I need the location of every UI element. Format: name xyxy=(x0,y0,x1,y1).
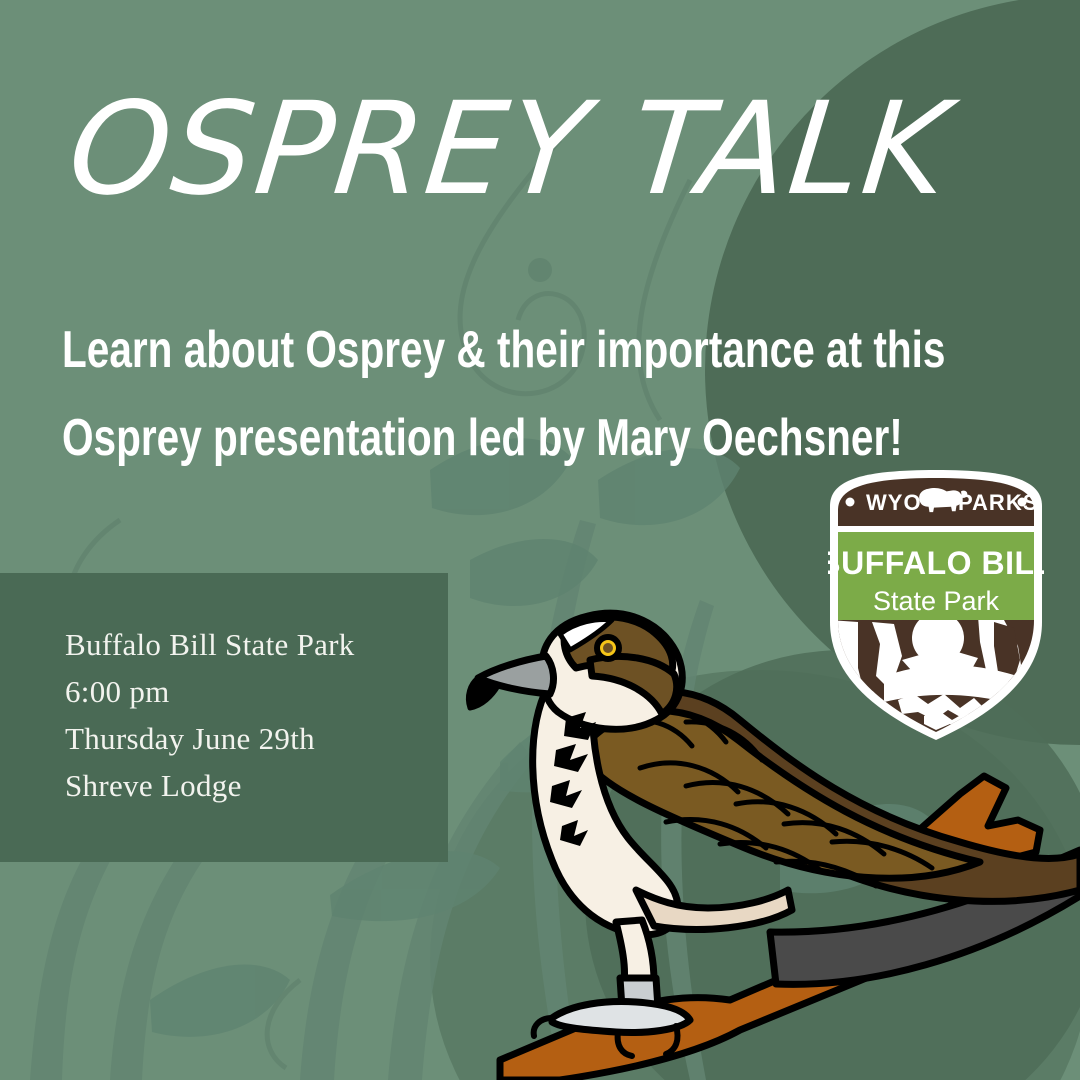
badge-parks-text: PARKS xyxy=(958,490,1038,515)
badge-divider xyxy=(828,526,1044,532)
badge-name-line-1: BUFFALO BILL xyxy=(828,545,1044,581)
subtitle-line-2: Osprey presentation led by Mary Oechsner… xyxy=(62,394,748,482)
detail-location: Shreve Lodge xyxy=(65,762,355,809)
detail-date: Thursday June 29th xyxy=(65,715,355,762)
osprey-talon xyxy=(552,1002,690,1033)
detail-time: 6:00 pm xyxy=(65,668,355,715)
poster-title: OSPREY TALK xyxy=(63,86,956,214)
poster-subtitle: Learn about Osprey & their importance at… xyxy=(62,306,748,482)
subtitle-line-1: Learn about Osprey & their importance at… xyxy=(62,306,748,394)
beak-hook xyxy=(468,678,498,708)
bullet-dot-left xyxy=(846,498,855,507)
talon-claw xyxy=(534,1018,552,1036)
vine-dot xyxy=(528,258,552,282)
event-details-panel: Buffalo Bill State Park 6:00 pm Thursday… xyxy=(0,573,448,862)
osprey-illustration xyxy=(440,590,1080,1080)
osprey-leg xyxy=(616,920,654,982)
osprey-wing xyxy=(590,711,980,879)
poster-canvas: OSPREY TALK Learn about Osprey & their i… xyxy=(0,0,1080,1080)
event-details-list: Buffalo Bill State Park 6:00 pm Thursday… xyxy=(65,621,355,809)
badge-wyo-text: WYO xyxy=(866,490,922,515)
detail-venue: Buffalo Bill State Park xyxy=(65,621,355,668)
osprey-pupil xyxy=(603,643,613,653)
